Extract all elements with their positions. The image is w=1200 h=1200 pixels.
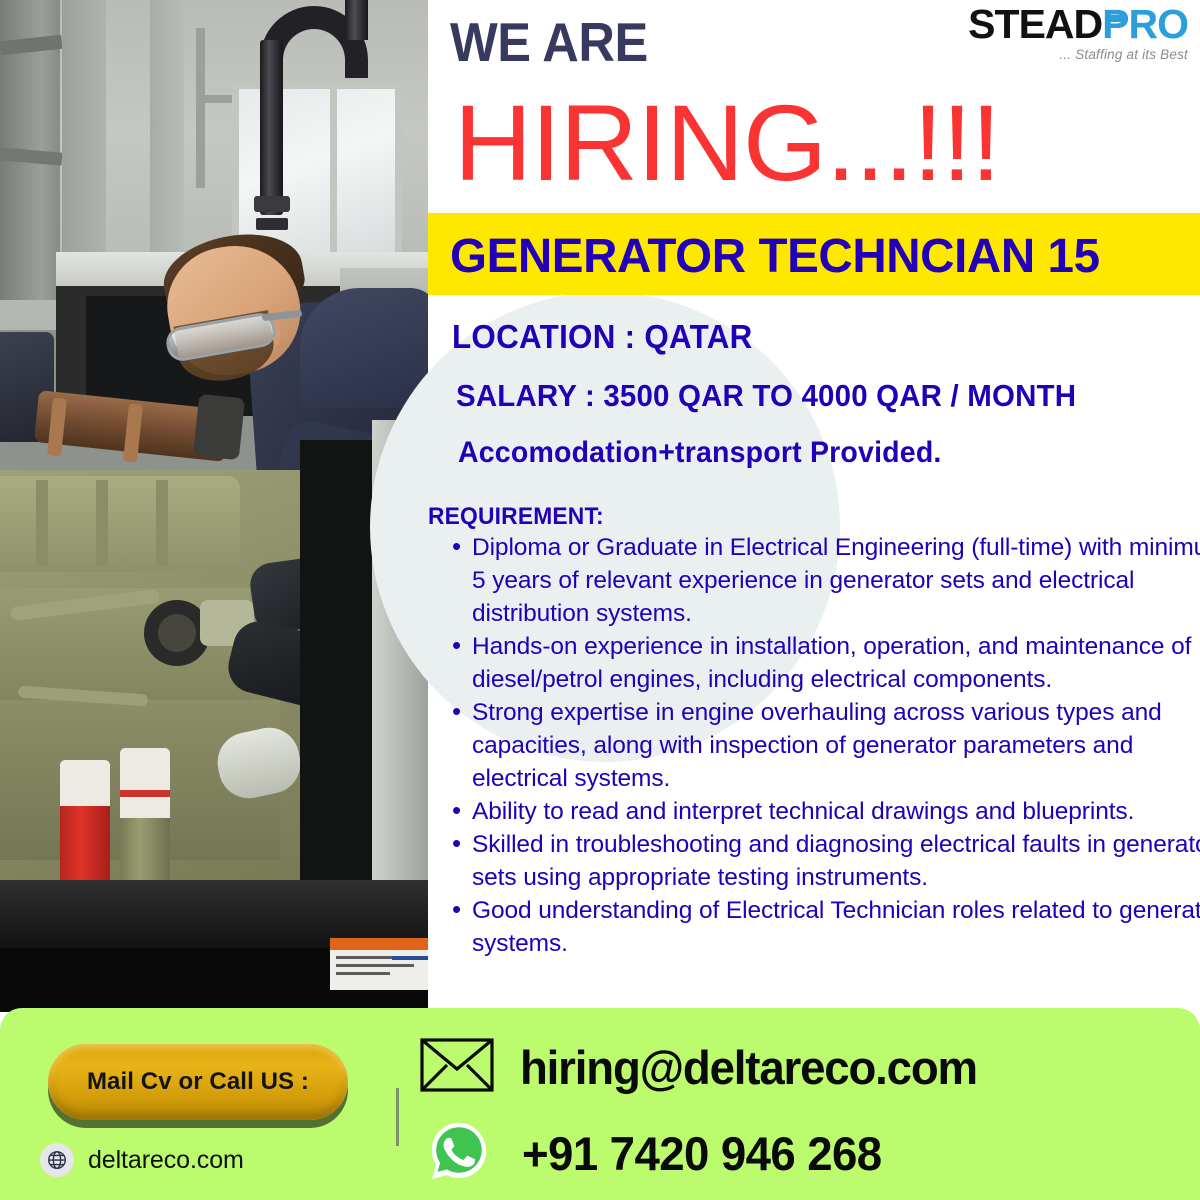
- exhaust-flange: [254, 196, 290, 212]
- logo-tagline: ... Staffing at its Best: [968, 47, 1188, 62]
- wall-pipe-vertical: [196, 28, 205, 188]
- envelope-icon: [420, 1038, 494, 1097]
- requirements-list: Diploma or Graduate in Electrical Engine…: [438, 531, 1200, 960]
- list-item: Hands-on experience in installation, ope…: [472, 630, 1200, 696]
- engine-rib: [156, 480, 168, 566]
- website-row[interactable]: deltareco.com: [40, 1143, 244, 1177]
- engine-pulley-hub: [158, 614, 196, 652]
- wall-column: [62, 0, 106, 290]
- wall-column-second: [150, 0, 184, 268]
- headline-eyebrow: WE ARE: [450, 10, 648, 74]
- engine-rib: [96, 480, 108, 566]
- generator-technician-photo: [0, 0, 428, 1012]
- engine-rib: [36, 480, 48, 566]
- requirements-title: REQUIREMENT:: [428, 503, 604, 531]
- headline-main: HIRING...!!!: [454, 86, 1000, 199]
- exhaust-flange-lower: [256, 218, 288, 230]
- salary-line: SALARY : 3500 QAR TO 4000 QAR / MONTH: [456, 378, 1076, 414]
- steadpro-logo: STEADPRO ... Staffing at its Best: [968, 4, 1188, 62]
- accommodation-line: Accomodation+transport Provided.: [458, 436, 942, 470]
- contact-footer: Mail Cv or Call US : deltareco.com: [0, 1008, 1200, 1200]
- location-line: LOCATION : QATAR: [452, 318, 753, 356]
- list-item: Skilled in troubleshooting and diagnosin…: [472, 828, 1200, 894]
- oil-filter-red-label: [60, 760, 110, 806]
- exhaust-pipe-left: [260, 40, 283, 215]
- content-panel: STEADPRO ... Staffing at its Best WE ARE…: [428, 0, 1200, 1012]
- workshop-window: [232, 82, 402, 260]
- whatsapp-icon: [428, 1120, 490, 1187]
- email-row[interactable]: hiring@deltareco.com: [420, 1038, 991, 1097]
- job-title-text: GENERATOR TECHNCIAN 15: [450, 229, 1100, 284]
- sticker-line: [336, 964, 414, 967]
- exhaust-pipe-right: [345, 0, 368, 40]
- rusty-pipe-cap: [193, 394, 245, 460]
- mail-cv-button-label: Mail Cv or Call US :: [87, 1068, 309, 1096]
- worker-shoulder: [300, 288, 428, 408]
- mail-cv-button[interactable]: Mail Cv or Call US :: [48, 1044, 348, 1120]
- job-title-banner: GENERATOR TECHNCIAN 15: [428, 213, 1200, 295]
- list-item: Ability to read and interpret technical …: [472, 795, 1200, 828]
- oil-filter-olive-label: [120, 748, 170, 818]
- sticker-blue-line: [392, 956, 428, 960]
- list-item: Strong expertise in engine overhauling a…: [472, 696, 1200, 795]
- logo-pro-text: PRO: [1102, 1, 1188, 47]
- logo-stead-text: STEAD: [968, 1, 1102, 47]
- sticker-line: [336, 972, 390, 975]
- generator-frame-dark: [300, 440, 372, 880]
- list-item: Good understanding of Electrical Technic…: [472, 894, 1200, 960]
- phone-row[interactable]: +91 7420 946 268: [428, 1120, 893, 1187]
- window-mullion: [330, 82, 337, 260]
- sticker-header-bar: [330, 938, 428, 950]
- footer-divider: [396, 1088, 399, 1146]
- oil-filter-stripe: [120, 790, 170, 797]
- hiring-poster: STEADPRO ... Staffing at its Best WE ARE…: [0, 0, 1200, 1200]
- email-text: hiring@deltareco.com: [520, 1040, 977, 1095]
- logo-wordmark: STEADPRO: [968, 4, 1188, 45]
- website-text: deltareco.com: [88, 1146, 244, 1175]
- sticker-line: [336, 956, 398, 959]
- globe-icon: [40, 1143, 74, 1177]
- phone-text: +91 7420 946 268: [522, 1126, 882, 1181]
- list-item: Diploma or Graduate in Electrical Engine…: [472, 531, 1200, 630]
